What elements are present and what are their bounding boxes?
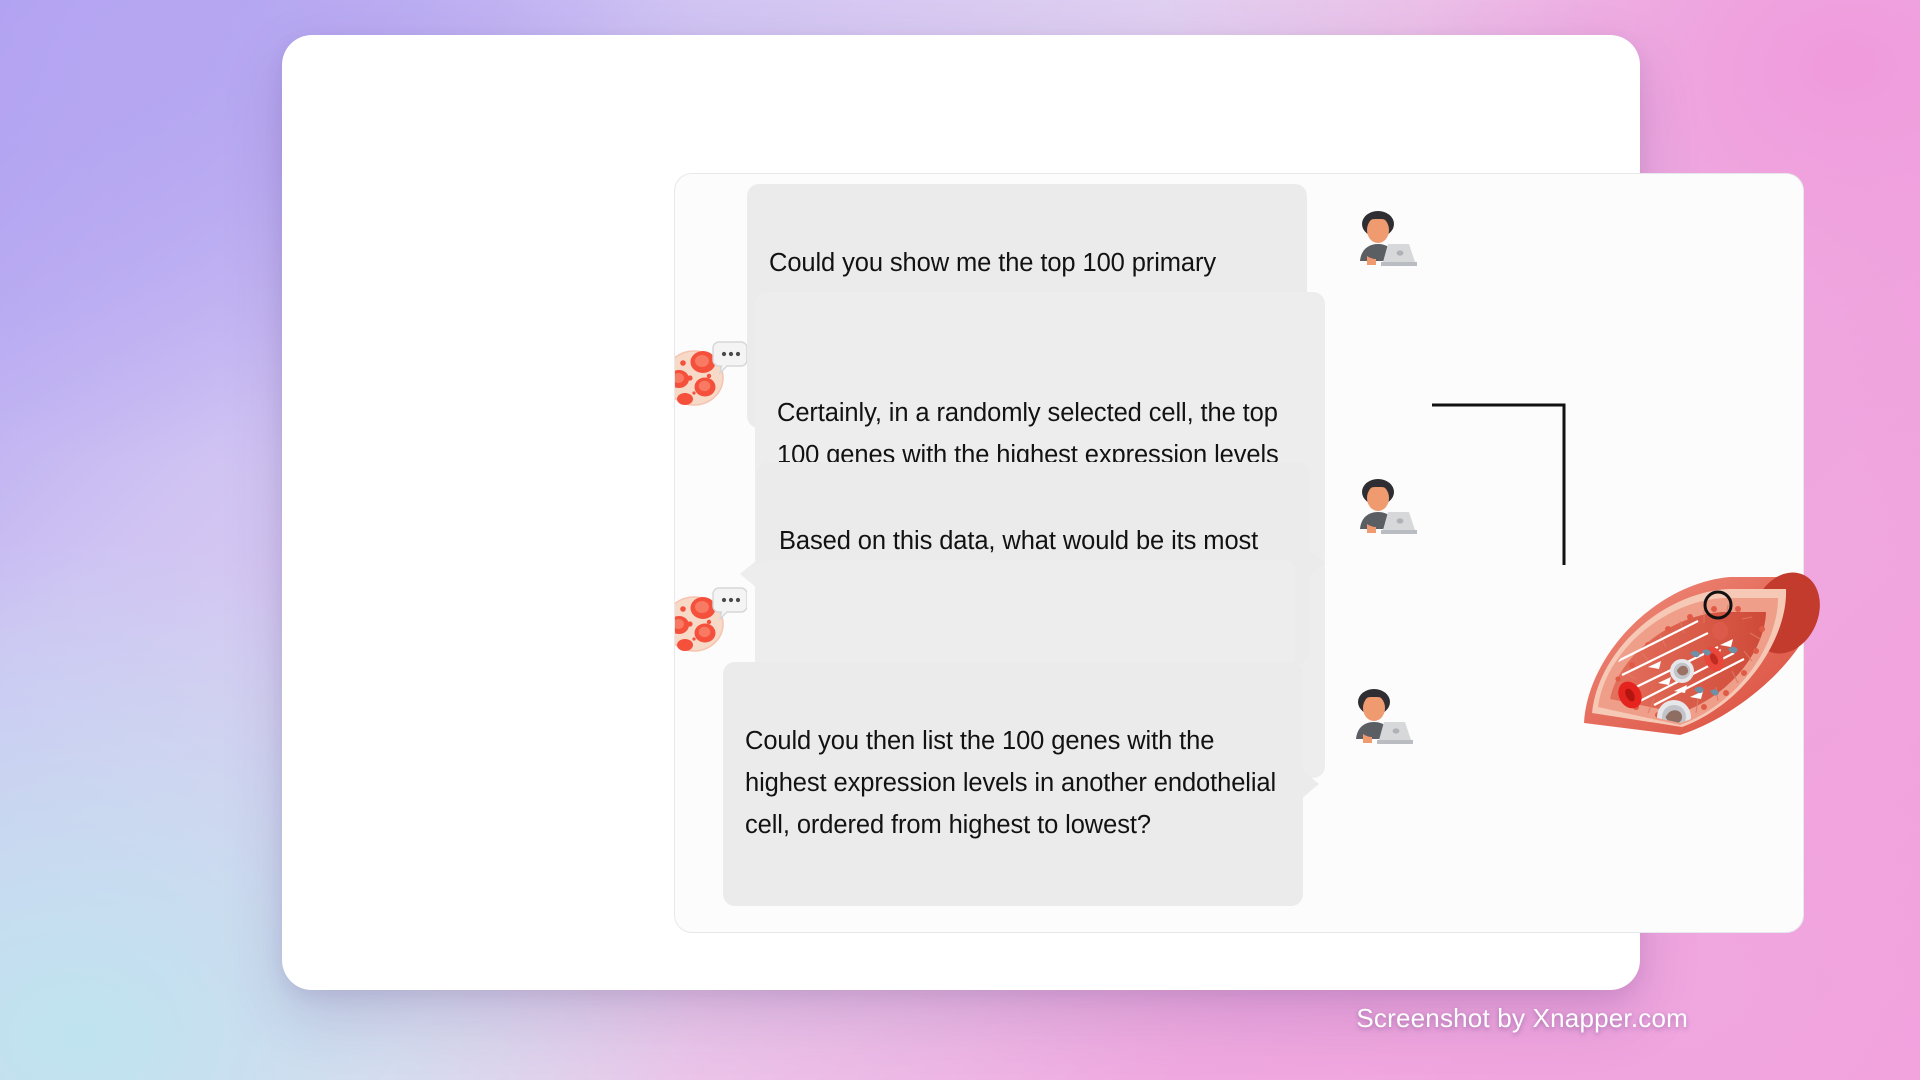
cell-with-chat-bubble-icon [674,584,747,654]
chat-panel[interactable]: Could you show me the top 100 primary ge… [674,173,1804,933]
message-row-user-3: Could you then list the 100 genes with t… [723,662,1415,906]
message-text: Could you then list the 100 genes with t… [745,727,1276,839]
xnapper-watermark: Screenshot by Xnapper.com [1356,1003,1688,1034]
person-at-laptop-icon [1345,472,1419,546]
page-backdrop: Could you show me the top 100 primary ge… [0,0,1920,1080]
person-at-laptop-icon [1341,682,1415,756]
person-at-laptop-icon [1345,204,1419,278]
bubble-tail-icon [1307,548,1325,578]
cell-with-chat-bubble-icon [674,338,747,408]
bubble-tail-icon [1301,769,1319,799]
screenshot-card: Could you show me the top 100 primary ge… [282,35,1640,990]
chat-bubble-user-3[interactable]: Could you then list the 100 genes with t… [723,662,1303,906]
blood-vessel-cross-section [1562,555,1822,745]
